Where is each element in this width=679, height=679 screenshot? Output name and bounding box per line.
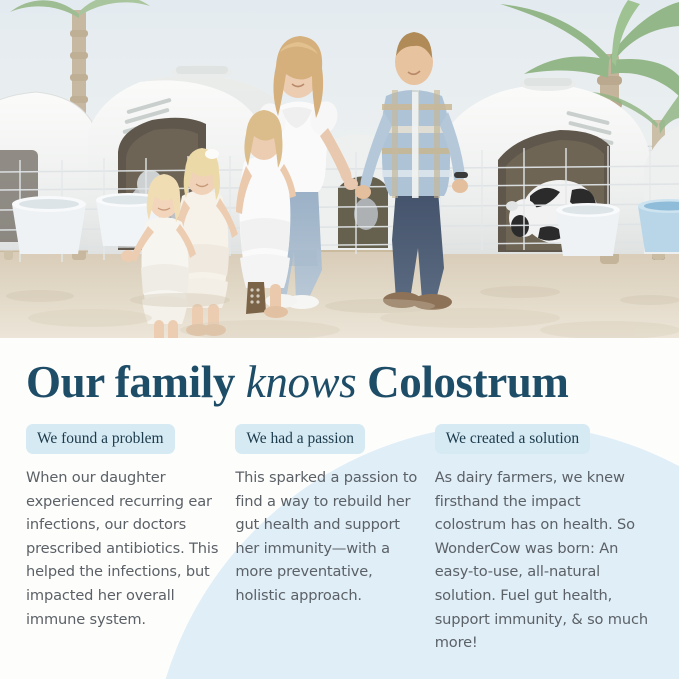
- story-pill-problem: We found a problem: [26, 424, 175, 454]
- page-title: Our family knows Colostrum: [26, 338, 653, 408]
- story-column-passion: We had a passion This sparked a passion …: [235, 424, 420, 655]
- story-panel: Our family knows Colostrum We found a pr…: [0, 338, 679, 679]
- story-column-problem: We found a problem When our daughter exp…: [26, 424, 221, 655]
- story-columns: We found a problem When our daughter exp…: [26, 424, 653, 655]
- hero-photo-illustration: [0, 0, 679, 338]
- story-body-passion: This sparked a passion to find a way to …: [235, 466, 420, 608]
- bucket-left-white: [12, 196, 86, 254]
- story-pill-passion: We had a passion: [235, 424, 365, 454]
- product-story-card: Our family knows Colostrum We found a pr…: [0, 0, 679, 679]
- headline-emphasis: knows: [246, 357, 357, 407]
- story-column-solution: We created a solution As dairy farmers, …: [435, 424, 653, 655]
- story-body-solution: As dairy farmers, we knew firsthand the …: [435, 466, 653, 655]
- bucket-right-white: [556, 203, 620, 256]
- hero-photo: [0, 0, 679, 338]
- headline-part-2: Colostrum: [356, 357, 568, 407]
- bucket-right-blue: [638, 199, 679, 252]
- story-body-problem: When our daughter experienced recurring …: [26, 466, 221, 631]
- story-pill-solution: We created a solution: [435, 424, 590, 454]
- headline-part-1: Our family: [26, 357, 246, 407]
